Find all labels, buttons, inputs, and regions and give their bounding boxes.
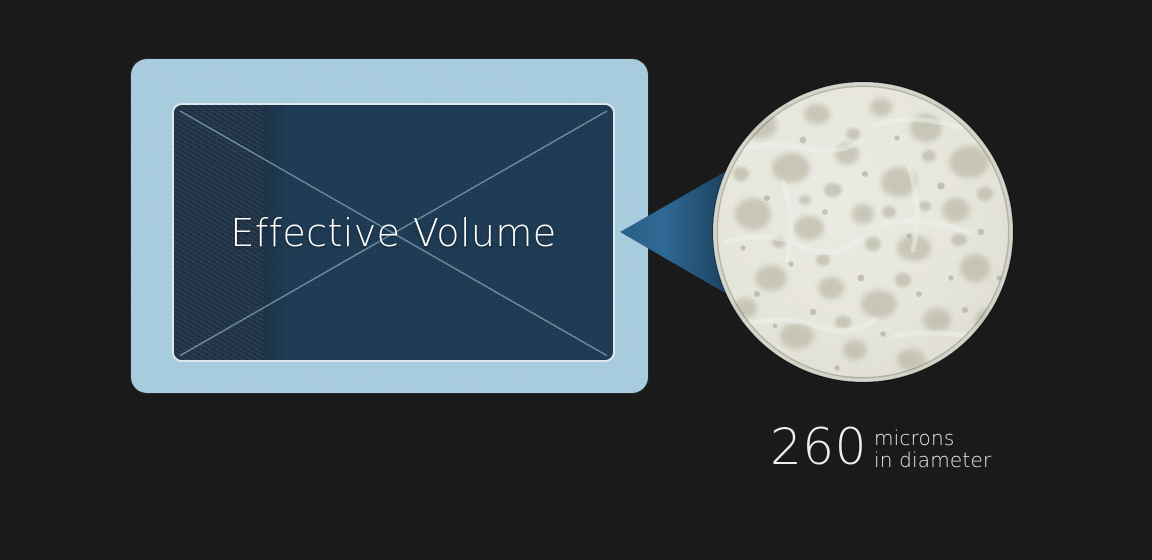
caption-unit-line-1: microns (874, 428, 991, 450)
effective-volume-label: Effective Volume (174, 214, 613, 252)
caption-unit-line-2: in diameter (874, 450, 991, 472)
diagram-canvas: Effective Volume (0, 0, 1152, 560)
caption-unit: microns in diameter (874, 424, 991, 471)
effective-volume-screen: Effective Volume (172, 103, 615, 362)
micrograph-caption: 260 microns in diameter (770, 424, 991, 471)
caption-number: 260 (770, 424, 867, 470)
micrograph-circle (713, 82, 1013, 382)
effective-volume-frame: Effective Volume (131, 59, 648, 393)
micrograph-image (713, 82, 1013, 382)
